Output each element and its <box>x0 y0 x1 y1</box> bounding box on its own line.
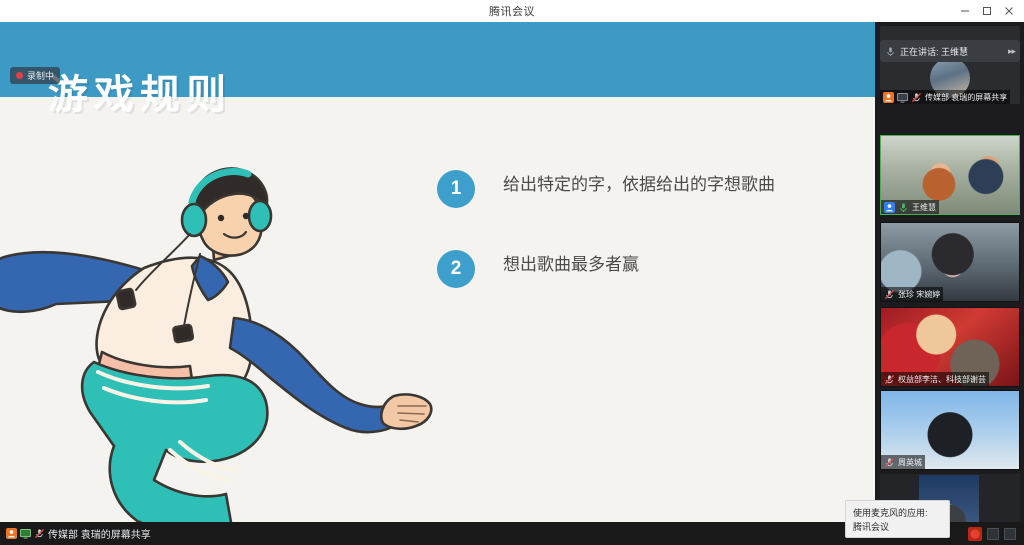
rule-number-badge: 1 <box>437 170 475 208</box>
recording-label: 录制中 <box>27 69 54 82</box>
shared-screen-stage: 游戏规则 <box>0 22 875 522</box>
tooltip-line-1: 使用麦克风的应用: <box>853 506 942 520</box>
mic-muted-icon <box>884 374 895 385</box>
system-tray <box>968 527 1024 541</box>
participant-name: 权益部李洁、科技部谢芸 <box>898 374 986 385</box>
participant-icon <box>6 528 17 539</box>
participant-tile[interactable]: 王维慧 <box>880 135 1020 215</box>
maximize-icon[interactable] <box>976 0 998 22</box>
speaking-label: 正在讲话: 王维慧 <box>900 45 968 58</box>
tray-square-icon[interactable] <box>987 528 999 540</box>
taskbar-item-label: 传媒部 袁瑞的屏幕共享 <box>48 526 151 541</box>
mic-muted-icon <box>911 92 922 103</box>
minimize-icon[interactable] <box>954 0 976 22</box>
window-controls <box>954 0 1020 22</box>
rule-item: 1 给出特定的字，依据给出的字想歌曲 <box>437 170 837 208</box>
participant-name: 张珍 宋婉婷 <box>898 289 940 300</box>
tile-label: 张珍 宋婉婷 <box>881 287 943 301</box>
screen-share-icon <box>20 528 31 539</box>
rule-item: 2 想出歌曲最多者赢 <box>437 250 837 288</box>
rule-number-badge: 2 <box>437 250 475 288</box>
recording-badge: 录制中 <box>10 67 60 84</box>
participant-icon <box>884 202 895 213</box>
mic-muted-icon <box>34 528 45 539</box>
screen-share-tile[interactable]: 传媒部 袁瑞的屏幕共享 <box>880 26 1020 104</box>
rule-text: 想出歌曲最多者赢 <box>503 250 639 281</box>
rules-list: 1 给出特定的字，依据给出的字想歌曲 2 想出歌曲最多者赢 <box>437 170 837 330</box>
slide-title: 游戏规则 <box>48 62 232 120</box>
rule-text: 给出特定的字，依据给出的字想歌曲 <box>503 170 775 201</box>
tile-label: 权益部李洁、科技部谢芸 <box>881 372 989 386</box>
speaking-indicator: 正在讲话: 王维慧 ▸▸ <box>880 40 1020 62</box>
participant-tile[interactable]: 张珍 宋婉婷 <box>880 222 1020 302</box>
sogou-input-icon[interactable] <box>968 527 982 541</box>
participant-tile[interactable]: 周英城 <box>880 390 1020 470</box>
participants-sidebar: 传媒部 袁瑞的屏幕共享 正在讲话: 王维慧 ▸▸ <box>875 22 1024 522</box>
double-chevron-right-icon[interactable]: ▸▸ <box>1008 46 1015 57</box>
microphone-tooltip: 使用麦克风的应用: 腾讯会议 <box>845 500 950 538</box>
recording-dot-icon <box>16 72 23 79</box>
tile-label: 周英城 <box>881 455 925 469</box>
taskbar-item-meeting[interactable]: 传媒部 袁瑞的屏幕共享 <box>0 522 157 545</box>
meeting-window: 腾讯会议 游戏规则 <box>0 0 1024 545</box>
tray-square-icon[interactable] <box>1004 528 1016 540</box>
tile-label: 传媒部 袁瑞的屏幕共享 <box>880 90 1010 104</box>
microphone-icon <box>885 46 896 57</box>
mic-muted-icon <box>884 457 895 468</box>
tooltip-line-2: 腾讯会议 <box>853 520 942 534</box>
participant-icon <box>883 92 894 103</box>
tile-label: 王维慧 <box>881 200 939 214</box>
participant-name: 周英城 <box>898 457 922 468</box>
share-owner-label: 传媒部 袁瑞的屏幕共享 <box>925 92 1007 103</box>
title-bar: 腾讯会议 <box>0 0 1024 22</box>
runner-illustration <box>0 150 434 522</box>
participant-tile[interactable]: 权益部李洁、科技部谢芸 <box>880 307 1020 387</box>
mic-muted-icon <box>884 289 895 300</box>
participant-name: 王维慧 <box>912 202 936 213</box>
close-icon[interactable] <box>998 0 1020 22</box>
mic-on-icon <box>898 202 909 213</box>
window-title: 腾讯会议 <box>489 3 535 19</box>
screen-share-icon <box>897 92 908 103</box>
